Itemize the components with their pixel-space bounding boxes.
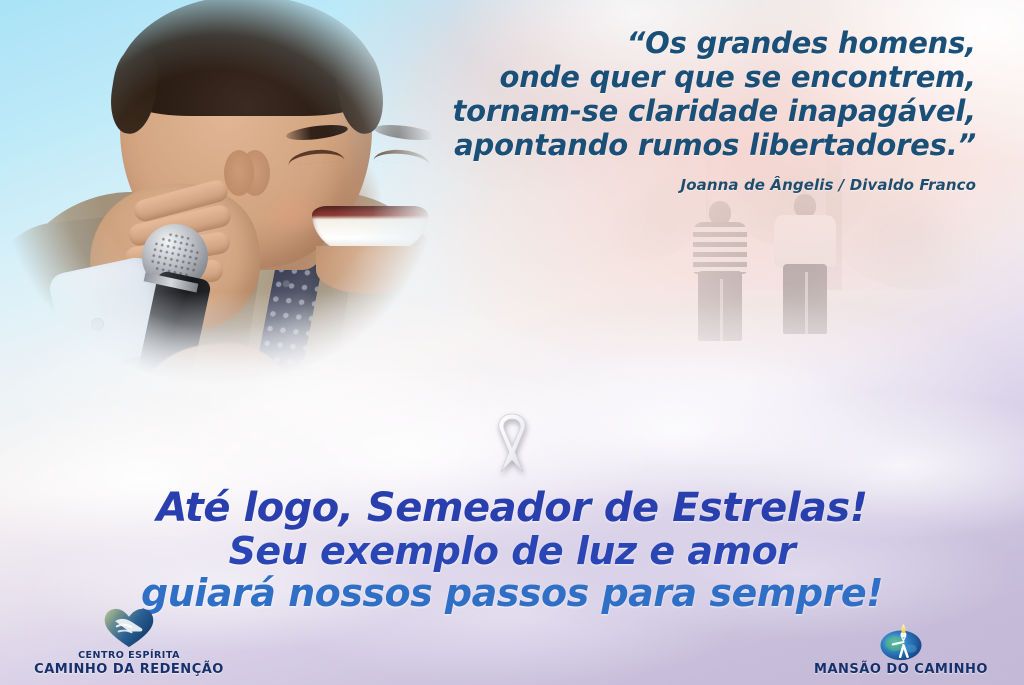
logo-right-line-1: MANSÃO DO CAMINHO	[786, 663, 1016, 677]
quote-line-2: onde quer que se encontrem,	[336, 60, 976, 94]
quote-attribution: Joanna de Ângelis / Divaldo Franco	[336, 176, 976, 194]
quote-line-4: apontando rumos libertadores.”	[336, 128, 976, 162]
portrait-bottom-fade	[0, 292, 464, 442]
quote-block: “Os grandes homens, onde quer que se enc…	[336, 26, 976, 194]
message-line-2: Seu exemplo de luz e amor	[0, 530, 1024, 572]
memorial-poster: “Os grandes homens, onde quer que se enc…	[0, 0, 1024, 685]
logo-left-line-2: CAMINHO DA REDENÇÃO	[14, 663, 244, 677]
logo-left-line-1: CENTRO ESPÍRITA	[14, 649, 244, 663]
mourning-ribbon-icon	[487, 408, 537, 474]
quote-line-3: tornam-se claridade inapagável,	[336, 94, 976, 128]
logo-mansao-do-caminho: MANSÃO DO CAMINHO	[786, 621, 1016, 677]
heart-hands-icon	[14, 607, 244, 649]
portrait-ear-right	[224, 150, 254, 196]
quote-line-1: “Os grandes homens,	[336, 26, 976, 60]
globe-figure-flame-icon	[786, 621, 1016, 663]
portrait-chin	[316, 246, 422, 294]
message-line-1: Até logo, Semeador de Estrelas!	[0, 486, 1024, 530]
logo-centro-espirita: CENTRO ESPÍRITA CAMINHO DA REDENÇÃO	[14, 607, 244, 677]
farewell-message: Até logo, Semeador de Estrelas! Seu exem…	[0, 486, 1024, 614]
